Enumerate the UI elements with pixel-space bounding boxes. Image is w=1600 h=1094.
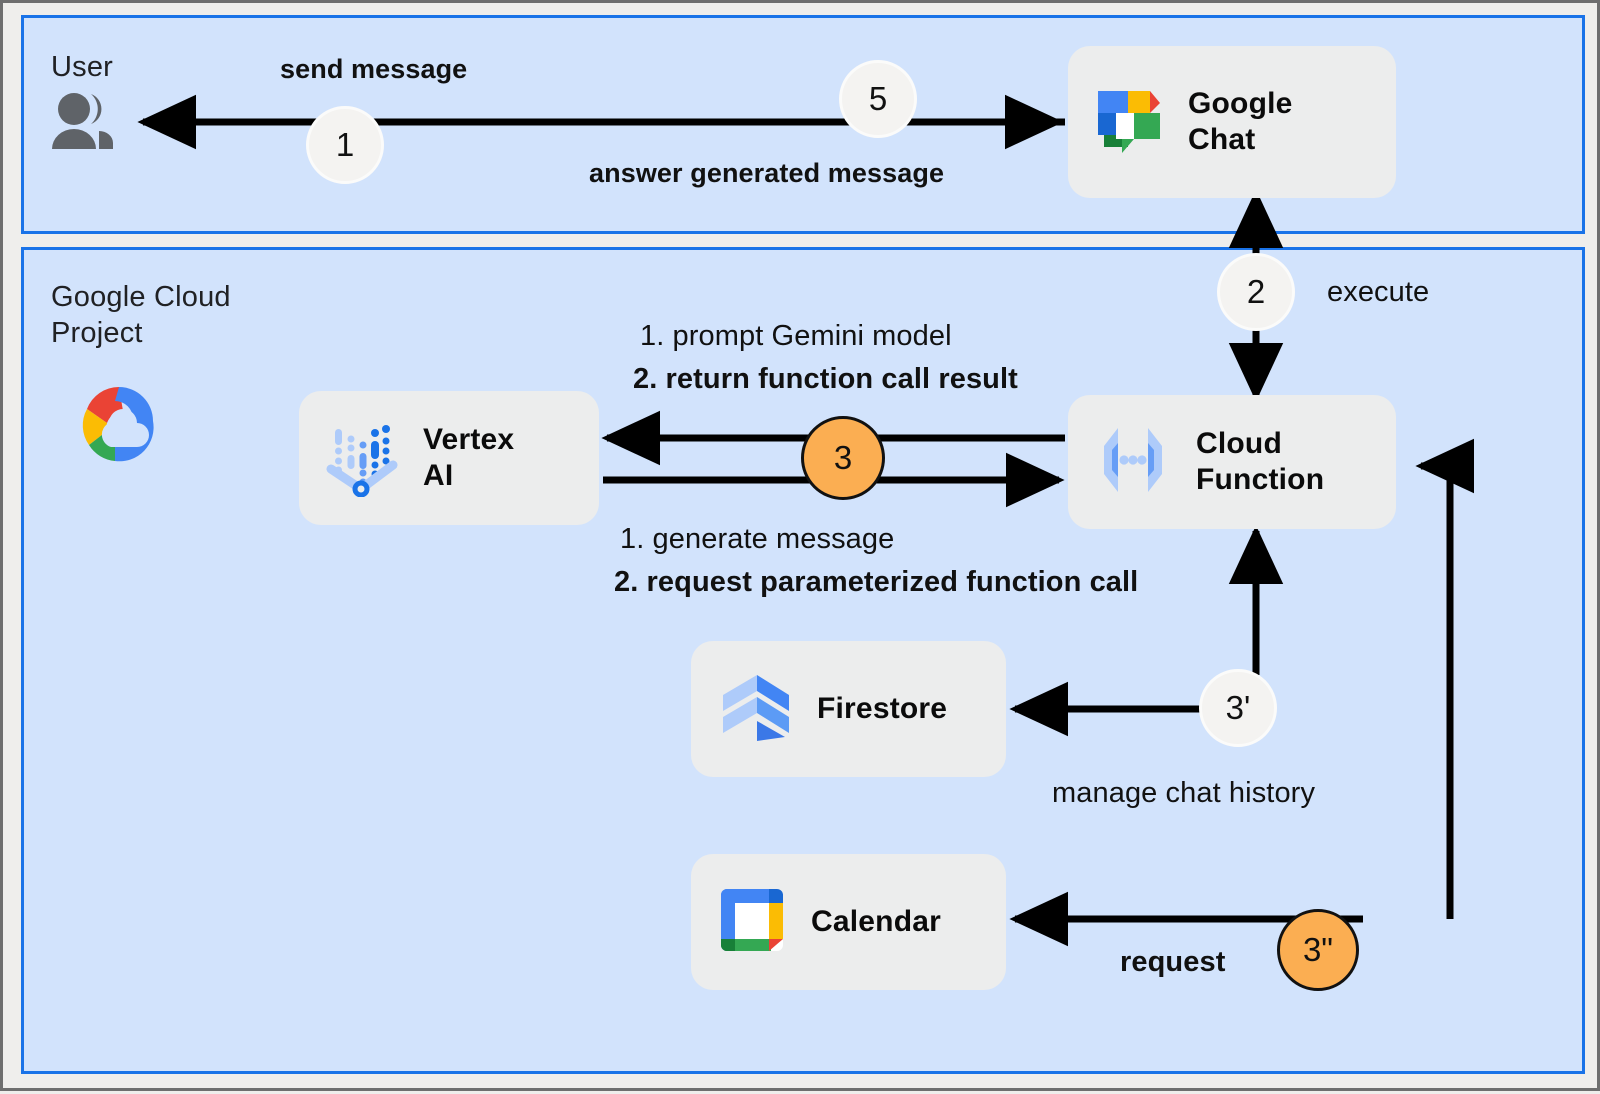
label-request-parameterized-function-call: 2. request parameterized function call <box>614 564 1138 601</box>
label-send-message: send message <box>280 51 467 88</box>
google-cloud-logo-icon <box>67 381 171 469</box>
firestore-icon <box>713 665 797 754</box>
step-badge-2: 2 <box>1217 253 1295 331</box>
step-badge-3-double-prime: 3" <box>1277 909 1359 991</box>
node-cloud-function-label: Cloud Function <box>1196 426 1324 498</box>
step-badge-5: 5 <box>839 60 917 138</box>
label-return-function-call-result: 2. return function call result <box>633 361 1018 398</box>
label-request: request <box>1120 944 1225 981</box>
step-badge-3-prime: 3' <box>1199 669 1277 747</box>
cloud-function-icon <box>1090 420 1176 505</box>
label-generate-message: 1. generate message <box>620 521 894 558</box>
label-answer-generated-message: answer generated message <box>589 155 944 192</box>
diagram-canvas: User Google Cloud Project <box>0 0 1600 1091</box>
node-cloud-function[interactable]: Cloud Function <box>1068 395 1396 529</box>
node-vertex-ai[interactable]: Vertex AI <box>299 391 599 525</box>
node-firestore-label: Firestore <box>817 691 947 727</box>
node-firestore[interactable]: Firestore <box>691 641 1006 777</box>
node-google-chat-label: Google Chat <box>1188 86 1293 158</box>
label-execute: execute <box>1327 274 1429 311</box>
user-people-icon <box>47 91 123 153</box>
node-vertex-ai-label: Vertex AI <box>423 422 514 494</box>
step-badge-1: 1 <box>306 106 384 184</box>
label-manage-chat-history: manage chat history <box>1052 775 1315 812</box>
node-google-chat[interactable]: Google Chat <box>1068 46 1396 198</box>
panel-user-label: User <box>51 49 113 85</box>
panel-cloud-label: Google Cloud Project <box>51 279 231 351</box>
step-badge-3: 3 <box>801 416 885 500</box>
google-calendar-icon <box>713 881 791 964</box>
vertex-ai-icon <box>321 415 403 502</box>
node-calendar-label: Calendar <box>811 904 941 940</box>
node-calendar[interactable]: Calendar <box>691 854 1006 990</box>
label-prompt-gemini-model: 1. prompt Gemini model <box>640 318 952 355</box>
google-chat-icon <box>1090 81 1168 164</box>
